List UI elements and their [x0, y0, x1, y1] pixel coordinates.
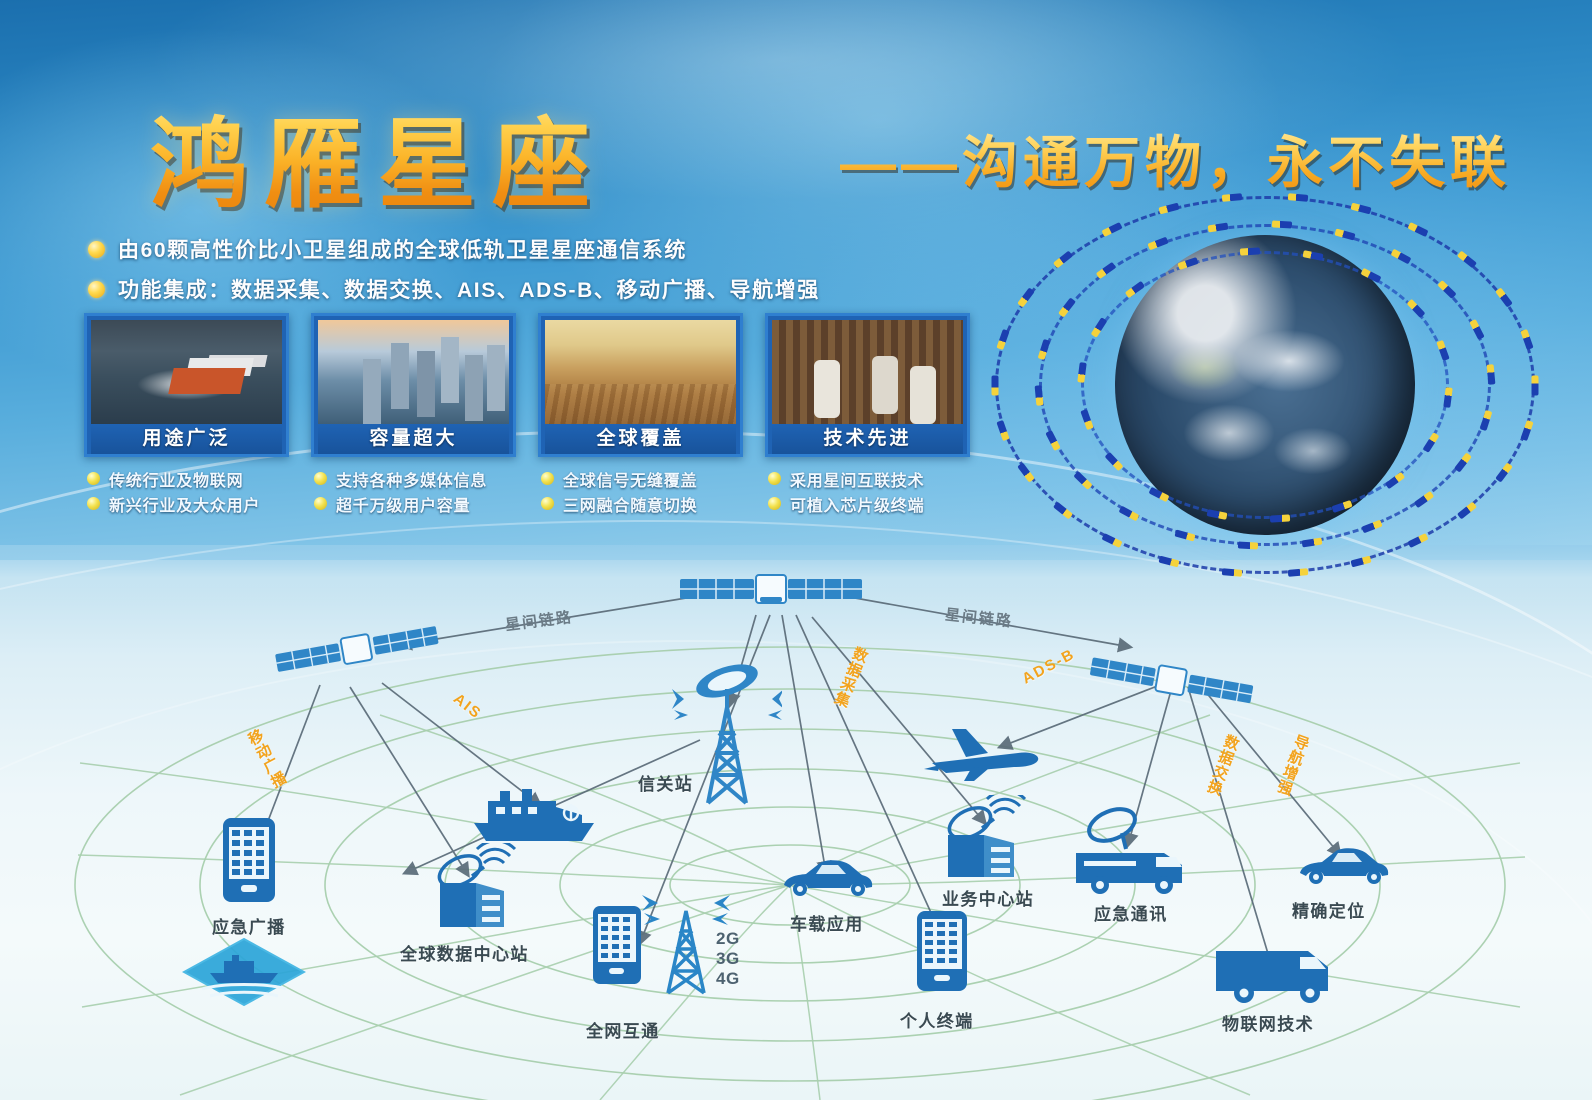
- intro-bullet-text: 功能集成：数据采集、数据交换、AIS、ADS-B、移动广播、导航增强: [118, 274, 820, 304]
- card-frame: 容量超大: [311, 313, 516, 457]
- gateway-station-label: 信关站: [638, 770, 693, 795]
- card-frame: 全球覆盖: [538, 313, 743, 457]
- card-bullet-text: 可植入芯片级终端: [790, 492, 924, 516]
- card-bullet: 采用星间互联技术: [768, 466, 970, 491]
- card-bullet-list: 支持各种多媒体信息 超千万级用户容量: [311, 466, 516, 516]
- card-caption: 用途广泛: [91, 424, 282, 454]
- bullet-dot-icon: [768, 497, 781, 510]
- card-bullet-text: 传统行业及物联网: [109, 467, 243, 491]
- bullet-dot-icon: [88, 241, 105, 258]
- precise-positioning-label: 精确定位: [1292, 897, 1366, 922]
- feature-card[interactable]: 用途广泛 传统行业及物联网 新兴行业及大众用户: [84, 313, 289, 516]
- all-network-interconnect-label: 全网互通: [586, 1017, 660, 1042]
- poster-root: 鸿雁星座 ——沟通万物，永不失联 由60颗高性价比小卫星组成的全球低轨卫星星座通…: [0, 0, 1592, 1100]
- card-bullet-text: 采用星间互联技术: [790, 467, 924, 491]
- network-diagram: 星间链路 星间链路 移动广播 AIS 数据采集 ADS-B 数据交换 导航增强: [0, 555, 1592, 1100]
- card-bullet: 可植入芯片级终端: [768, 491, 970, 516]
- satellite-marker: [1270, 514, 1290, 522]
- feature-card[interactable]: 技术先进 采用星间互联技术 可植入芯片级终端: [765, 313, 970, 516]
- service-center-station-label: 业务中心站: [942, 885, 1034, 910]
- satellite-marker: [992, 375, 999, 395]
- card-bullet-text: 三网融合随意切换: [563, 492, 697, 516]
- bullet-dot-icon: [314, 497, 327, 510]
- poster-title: 鸿雁星座: [150, 85, 606, 227]
- satellite-marker: [1239, 247, 1259, 255]
- card-bullet-text: 新兴行业及大众用户: [109, 492, 260, 516]
- iot-technology-label: 物联网技术: [1222, 1010, 1314, 1035]
- card-bullet-text: 支持各种多媒体信息: [336, 467, 487, 491]
- feature-card[interactable]: 全球覆盖 全球信号无缝覆盖 三网融合随意切换: [538, 313, 743, 516]
- bullet-dot-icon: [87, 472, 100, 485]
- global-data-center-label: 全球数据中心站: [400, 940, 529, 965]
- card-bullet-list: 传统行业及物联网 新兴行业及大众用户: [84, 466, 289, 516]
- gen-4g: 4G: [716, 969, 740, 989]
- feature-card[interactable]: 容量超大 支持各种多媒体信息 超千万级用户容量: [311, 313, 516, 516]
- intro-bullet: 功能集成：数据采集、数据交换、AIS、ADS-B、移动广播、导航增强: [88, 272, 908, 306]
- gen-2g: 2G: [716, 929, 740, 949]
- card-caption: 技术先进: [772, 424, 963, 454]
- card-bullet-text: 全球信号无缝覆盖: [563, 467, 697, 491]
- card-photo-satellite-lab: [772, 320, 963, 424]
- card-photo-cargo-ship: [91, 320, 282, 424]
- card-bullet-text: 超千万级用户容量: [336, 492, 470, 516]
- intro-bullet-text: 由60颗高性价比小卫星组成的全球低轨卫星星座通信系统: [118, 234, 687, 264]
- personal-terminal-label: 个人终端: [900, 1007, 974, 1032]
- bullet-dot-icon: [768, 472, 781, 485]
- card-photo-city-skyline: [318, 320, 509, 424]
- bullet-dot-icon: [87, 497, 100, 510]
- card-bullet: 新兴行业及大众用户: [87, 491, 289, 516]
- intro-bullet-list: 由60颗高性价比小卫星组成的全球低轨卫星星座通信系统 功能集成：数据采集、数据交…: [88, 232, 908, 312]
- card-photo-desert-caravan: [545, 320, 736, 424]
- satellite-marker: [1287, 193, 1308, 202]
- satellite-marker: [1272, 220, 1292, 228]
- vehicle-application-label: 车载应用: [790, 910, 864, 935]
- orbit-ring-outer: [995, 196, 1535, 574]
- card-bullet-list: 全球信号无缝覆盖 三网融合随意切换: [538, 466, 743, 516]
- emergency-broadcast-label: 应急广播: [212, 913, 286, 938]
- globe-constellation-graphic: [985, 185, 1545, 585]
- cellular-generations-label: 2G 3G 4G: [716, 929, 740, 989]
- bullet-dot-icon: [541, 472, 554, 485]
- card-frame: 技术先进: [765, 313, 970, 457]
- satellite-marker: [1237, 541, 1257, 549]
- bullet-dot-icon: [88, 281, 105, 298]
- card-bullet: 全球信号无缝覆盖: [541, 466, 743, 491]
- card-bullet: 超千万级用户容量: [314, 491, 516, 516]
- card-caption: 容量超大: [318, 424, 509, 454]
- card-bullet-list: 采用星间互联技术 可植入芯片级终端: [765, 466, 970, 516]
- card-bullet: 传统行业及物联网: [87, 466, 289, 491]
- emergency-comms-label: 应急通讯: [1094, 900, 1168, 925]
- card-frame: 用途广泛: [84, 313, 289, 457]
- card-caption: 全球覆盖: [545, 424, 736, 454]
- satellite-marker: [1532, 375, 1539, 395]
- feature-card-row: 用途广泛 传统行业及物联网 新兴行业及大众用户 容量超大: [84, 313, 970, 516]
- gen-3g: 3G: [716, 949, 740, 969]
- card-bullet: 支持各种多媒体信息: [314, 466, 516, 491]
- card-bullet: 三网融合随意切换: [541, 491, 743, 516]
- satellite-marker: [1486, 364, 1495, 385]
- bullet-dot-icon: [314, 472, 327, 485]
- bullet-dot-icon: [541, 497, 554, 510]
- intro-bullet: 由60颗高性价比小卫星组成的全球低轨卫星星座通信系统: [88, 232, 908, 266]
